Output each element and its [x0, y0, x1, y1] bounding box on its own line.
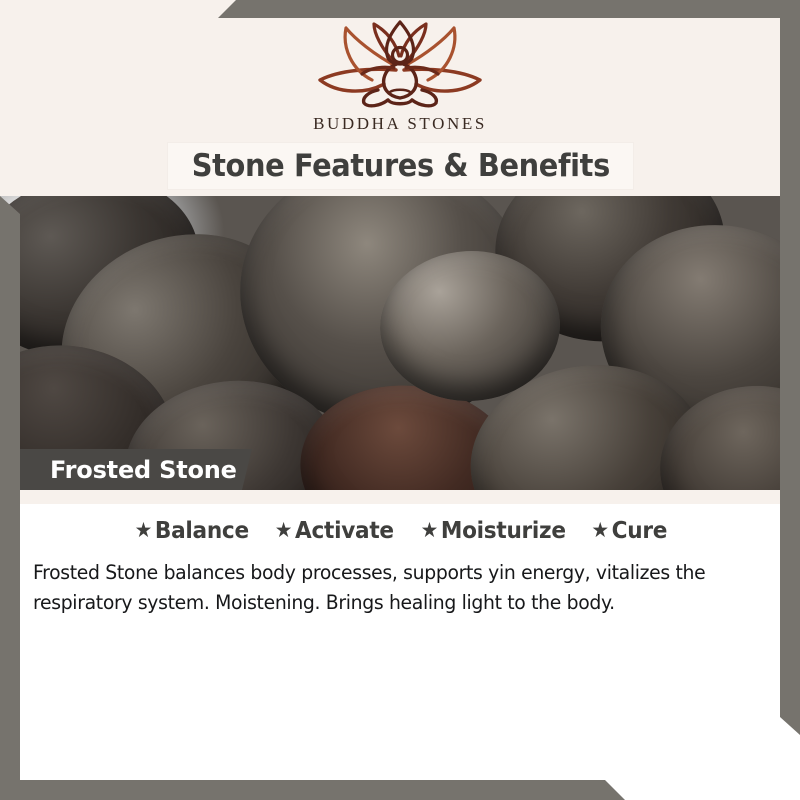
benefit-item: ★Moisturize — [420, 518, 565, 544]
stone-name-label: Frosted Stone — [20, 449, 252, 490]
title-banner: Stone Features & Benefits — [168, 143, 633, 189]
benefits-list: ★Balance ★Activate ★Moisturize ★Cure — [0, 518, 800, 544]
frame-band-top — [218, 0, 800, 18]
content-area: ★Balance ★Activate ★Moisturize ★Cure Fro… — [0, 490, 800, 800]
brand-name: BUDDHA STONES — [0, 114, 800, 134]
product-infographic-poster: BUDDHA STONES Stone Features & Benefits … — [0, 0, 800, 800]
star-icon: ★ — [134, 518, 151, 542]
description-text: Frosted Stone balances body processes, s… — [33, 558, 747, 618]
benefit-item: ★Balance — [134, 518, 248, 544]
benefit-label: Cure — [611, 518, 666, 544]
benefit-label: Moisturize — [441, 518, 566, 544]
benefit-item: ★Activate — [275, 518, 394, 544]
star-icon: ★ — [420, 518, 437, 542]
content-top-strip — [0, 490, 800, 504]
lotus-meditation-icon — [300, 18, 500, 110]
product-photo — [0, 196, 800, 490]
benefit-item: ★Cure — [591, 518, 667, 544]
star-icon: ★ — [275, 518, 292, 542]
benefit-label: Balance — [155, 518, 249, 544]
frame-band-right — [780, 0, 800, 735]
page-title: Stone Features & Benefits — [191, 148, 609, 184]
stone-name-text: Frosted Stone — [50, 456, 237, 484]
brand-logo: BUDDHA STONES — [0, 18, 800, 134]
frame-band-bottom — [0, 780, 625, 800]
frame-band-left — [0, 196, 20, 800]
benefit-label: Activate — [295, 518, 394, 544]
star-icon: ★ — [591, 518, 608, 542]
